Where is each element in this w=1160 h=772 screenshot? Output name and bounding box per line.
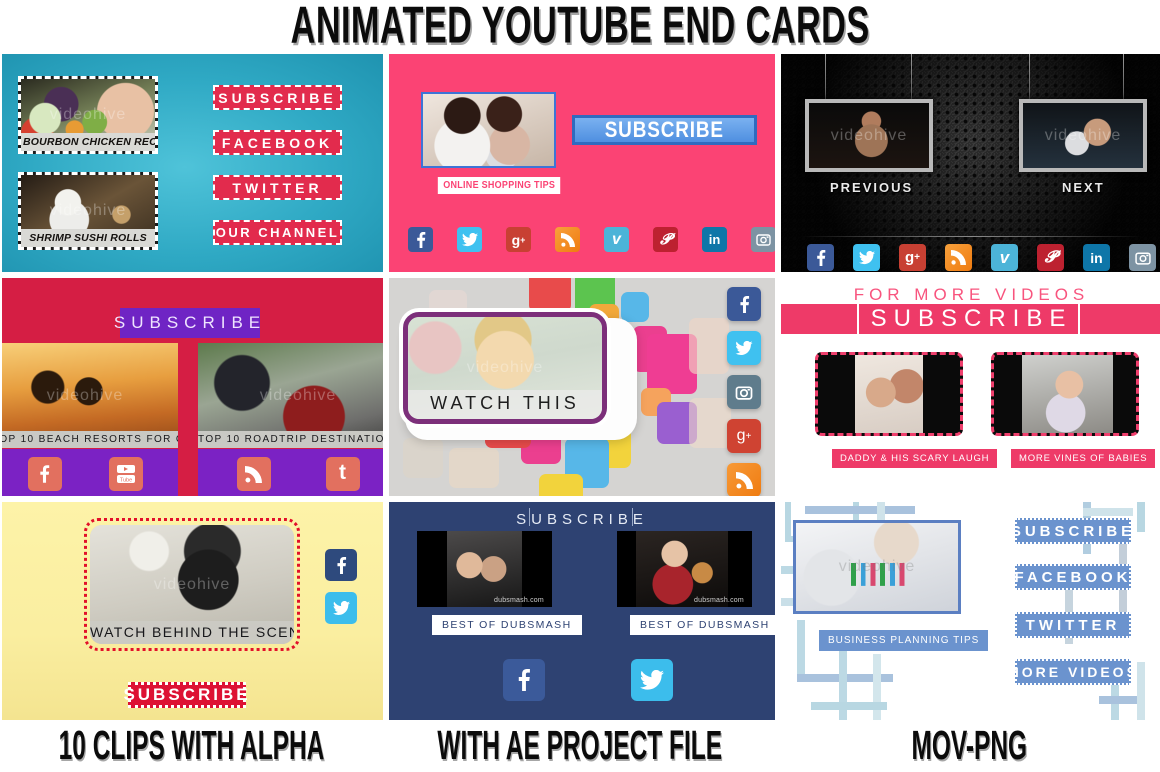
- subscribe-button[interactable]: SUBSCRIBE: [213, 85, 342, 110]
- decorative-square: [689, 398, 731, 448]
- twitter-icon[interactable]: [457, 227, 482, 252]
- subscribe-button-label: SUBSCRIBE: [516, 511, 648, 528]
- video-thumbnail[interactable]: videohive TOP 10 ROADTRIP DESTINATIONS: [198, 343, 385, 448]
- tick-mark: [529, 508, 530, 526]
- decorative-line: [805, 506, 915, 514]
- decorative-line: [1137, 500, 1145, 532]
- panel-yellow-bts: videohive WATCH BEHIND THE SCENES SUBSCR…: [0, 500, 385, 722]
- facebook-icon[interactable]: [727, 287, 761, 321]
- footer-caption-format: MOV-PNG: [911, 723, 1027, 770]
- rss-icon[interactable]: [945, 244, 972, 271]
- next-video-thumbnail[interactable]: videohive: [1019, 99, 1147, 172]
- hanger-wire: [911, 54, 912, 100]
- subscribe-button[interactable]: SUBSCRIBE: [128, 682, 246, 708]
- video-thumbnail[interactable]: [815, 352, 963, 436]
- instagram-icon[interactable]: [727, 375, 761, 409]
- thumbnail-image: [423, 94, 554, 166]
- video-thumbnail[interactable]: dubsmash.com: [417, 531, 552, 607]
- subscribe-button-label: SUBSCRIBE: [871, 305, 1073, 333]
- hanger-wire: [1123, 54, 1124, 100]
- facebook-icon[interactable]: [325, 549, 357, 581]
- decorative-square: [403, 438, 443, 478]
- hanger-wire: [1029, 54, 1030, 100]
- video-watermark: dubsmash.com: [694, 597, 744, 604]
- thumbnail-caption: DADDY & HIS SCARY LAUGH: [832, 449, 997, 468]
- youtube-icon[interactable]: Tube: [109, 457, 143, 491]
- facebook-icon[interactable]: [807, 244, 834, 271]
- social-icon-row: g+ v 𝓟 in: [408, 227, 776, 252]
- decorative-square: [689, 318, 729, 374]
- facebook-button[interactable]: FACEBOOK: [213, 130, 342, 155]
- vimeo-icon[interactable]: v: [604, 227, 629, 252]
- googleplus-icon[interactable]: g+: [899, 244, 926, 271]
- more-videos-button[interactable]: MORE VIDEOS: [1015, 659, 1131, 685]
- pinterest-icon[interactable]: 𝓟: [653, 227, 678, 252]
- subscribe-button[interactable]: SUBSCRIBE: [781, 304, 1160, 334]
- footer-caption-clips: 10 CLIPS WITH ALPHA: [58, 723, 324, 770]
- panel-colorful-squares: videohive WATCH THIS g+: [387, 276, 777, 498]
- panel-pink-shopping: ONLINE SHOPPING TIPS SUBSCRIBE g+ v 𝓟 in: [387, 52, 777, 274]
- thumbnail-caption: WATCH BEHIND THE SCENES: [90, 621, 294, 644]
- headline: FOR MORE VIDEOS: [781, 285, 1160, 305]
- facebook-icon[interactable]: [408, 227, 433, 252]
- panel-dark-metal: videohive videohive PREVIOUS NEXT g+ v 𝓟…: [779, 52, 1160, 274]
- instagram-icon[interactable]: [1129, 244, 1156, 271]
- thumbnail-image: [1022, 355, 1113, 433]
- thumbnail-image: [636, 531, 728, 607]
- subscribe-button[interactable]: SUBSCRIBE: [1015, 518, 1131, 544]
- panel-crimson-travel: SUBSCRIBE videohive TOP 10 BEACH RESORTS…: [0, 276, 385, 498]
- twitter-button[interactable]: TWITTER: [213, 175, 342, 200]
- footer-cell: 10 CLIPS WITH ALPHA: [0, 720, 382, 772]
- video-thumbnail[interactable]: dubsmash.com: [617, 531, 752, 607]
- decorative-square: [449, 448, 499, 488]
- divider: [801, 236, 1142, 237]
- social-icon-row: g+ v 𝓟 in: [807, 244, 1156, 271]
- twitter-icon[interactable]: [727, 331, 761, 365]
- video-thumbnail[interactable]: videohive WATCH THIS: [403, 312, 607, 424]
- panel-white-pink-babies: FOR MORE VIDEOS SUBSCRIBE DADDY & HIS SC…: [779, 276, 1160, 498]
- thumbnail-caption: MORE VINES OF BABIES: [1011, 449, 1155, 468]
- thumbnail-image: [796, 523, 958, 611]
- linkedin-icon[interactable]: in: [1083, 244, 1110, 271]
- facebook-icon[interactable]: [28, 457, 62, 491]
- vimeo-icon[interactable]: v: [991, 244, 1018, 271]
- decorative-line: [873, 654, 881, 722]
- instagram-icon[interactable]: [751, 227, 776, 252]
- thumbnail-caption: TOP 10 BEACH RESORTS FOR COUPLES: [0, 431, 178, 448]
- video-thumbnail[interactable]: videohive TOP 10 BEACH RESORTS FOR COUPL…: [0, 343, 178, 448]
- googleplus-icon[interactable]: g+: [727, 419, 761, 453]
- thumbnail-caption: TOP 10 ROADTRIP DESTINATIONS: [198, 431, 385, 448]
- tick-mark: [857, 304, 859, 334]
- video-thumbnail[interactable]: videohive WATCH BEHIND THE SCENES: [90, 525, 294, 644]
- our-channel-button[interactable]: OUR CHANNEL: [213, 220, 342, 245]
- hanger-wire: [825, 54, 826, 100]
- previous-label: PREVIOUS: [830, 180, 913, 195]
- thumbnail-image: [809, 103, 929, 168]
- social-bar-right: t: [198, 449, 385, 498]
- svg-text:Tube: Tube: [119, 478, 131, 484]
- decorative-line: [1083, 508, 1133, 516]
- video-thumbnail[interactable]: [421, 92, 556, 168]
- thumbnail-caption: WATCH THIS: [408, 390, 602, 419]
- video-thumbnail[interactable]: videohive: [793, 520, 961, 614]
- decorative-line: [797, 620, 805, 682]
- thumbnail-caption: BEST OF DUBSMASH: [630, 615, 777, 635]
- video-watermark: dubsmash.com: [494, 597, 544, 604]
- thumbnail-caption: ONLINE SHOPPING TIPS: [438, 177, 561, 194]
- video-thumbnail[interactable]: videohive SHRIMP SUSHI ROLLS: [18, 172, 158, 250]
- previous-video-thumbnail[interactable]: videohive: [805, 99, 933, 172]
- video-thumbnail[interactable]: [991, 352, 1139, 436]
- twitter-button[interactable]: TWITTER: [1015, 612, 1131, 638]
- rss-icon[interactable]: [727, 463, 761, 497]
- panel-navy-dubsmash: SUBSCRIBE dubsmash.com dubsmash.com BEST…: [387, 500, 777, 722]
- pinterest-icon[interactable]: 𝓟: [1037, 244, 1064, 271]
- decorative-square: [621, 292, 649, 322]
- twitter-icon[interactable]: [325, 592, 357, 624]
- page-title-bar: ANIMATED YOUTUBE END CARDS: [0, 0, 1160, 52]
- video-thumbnail[interactable]: videohive BOURBON CHICKEN RECIPE: [18, 76, 158, 154]
- page-title: ANIMATED YOUTUBE END CARDS: [290, 0, 869, 56]
- linkedin-icon[interactable]: in: [702, 227, 727, 252]
- subscribe-button-label: SUBSCRIBE: [605, 117, 724, 143]
- panel-blue-business: videohive BUSINESS PLANNING TIPS SUBSCRI…: [779, 500, 1160, 722]
- thumbnail-image: [447, 531, 523, 607]
- footer-caption-project-file: WITH AE PROJECT FILE: [438, 723, 723, 770]
- footer-cell: WITH AE PROJECT FILE: [382, 720, 777, 772]
- thumbnail-caption: SHRIMP SUSHI ROLLS: [21, 229, 155, 247]
- end-cards-grid: videohive BOURBON CHICKEN RECIPE videohi…: [0, 52, 1160, 720]
- facebook-icon[interactable]: [503, 659, 545, 701]
- decorative-square: [539, 474, 583, 498]
- tick-mark: [1078, 304, 1080, 334]
- twitter-icon[interactable]: [853, 244, 880, 271]
- decorative-square: [529, 276, 571, 312]
- twitter-icon[interactable]: [631, 659, 673, 701]
- facebook-button[interactable]: FACEBOOK: [1015, 564, 1131, 590]
- panel-teal-recipe: videohive BOURBON CHICKEN RECIPE videohi…: [0, 52, 385, 274]
- next-label: NEXT: [1062, 180, 1105, 195]
- thumbnail-caption: BEST OF DUBSMASH: [432, 615, 582, 635]
- thumbnail-caption: BUSINESS PLANNING TIPS: [819, 630, 988, 651]
- footer-captions: 10 CLIPS WITH ALPHA WITH AE PROJECT FILE…: [0, 720, 1160, 772]
- googleplus-icon[interactable]: g+: [506, 227, 531, 252]
- rss-icon[interactable]: [555, 227, 580, 252]
- tick-mark: [632, 508, 633, 526]
- subscribe-button[interactable]: SUBSCRIBE: [120, 308, 260, 338]
- thumbnail-image: [855, 355, 923, 433]
- social-bar-left: Tube: [0, 449, 178, 498]
- decorative-line: [811, 702, 887, 710]
- rss-icon[interactable]: [237, 457, 271, 491]
- twitter-icon[interactable]: t: [326, 457, 360, 491]
- footer-cell: MOV-PNG: [778, 720, 1160, 772]
- subscribe-button[interactable]: SUBSCRIBE: [389, 511, 775, 528]
- thumbnail-image: [1023, 103, 1143, 168]
- subscribe-button[interactable]: SUBSCRIBE: [572, 115, 757, 145]
- thumbnail-caption: BOURBON CHICKEN RECIPE: [21, 133, 155, 151]
- subscribe-text: SUBSCRIBE: [871, 305, 1073, 332]
